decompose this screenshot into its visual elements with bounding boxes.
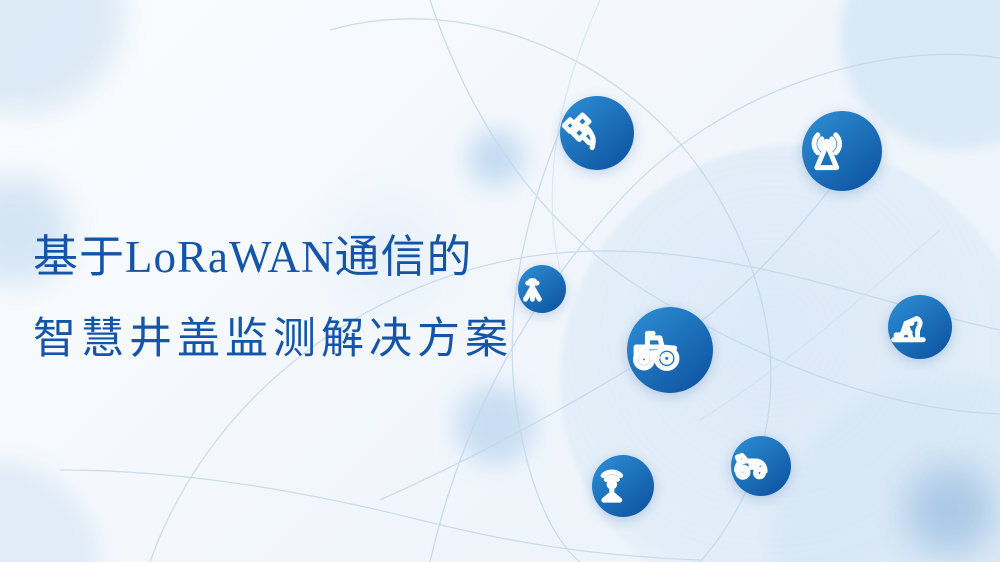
title-line-1: 基于LoRaWAN通信的 <box>33 228 513 286</box>
node-antenna[interactable] <box>802 111 882 191</box>
node-tripod[interactable] <box>518 265 566 313</box>
slide-canvas: 基于LoRaWAN通信的 智慧井盖监测解决方案 <box>0 0 1000 562</box>
tractor-icon <box>627 322 713 379</box>
node-sensor[interactable] <box>592 455 654 517</box>
node-oil-pump[interactable] <box>888 295 952 359</box>
wireless-sensor-icon <box>592 466 654 506</box>
title-block: 基于LoRaWAN通信的 智慧井盖监测解决方案 <box>33 228 513 370</box>
node-tractor[interactable] <box>627 307 713 393</box>
node-harvester[interactable] <box>731 436 791 496</box>
satellite-icon <box>560 110 634 156</box>
title-line-2: 智慧井盖监测解决方案 <box>33 308 513 370</box>
survey-tripod-icon <box>518 275 566 304</box>
antenna-tower-icon <box>802 126 882 176</box>
node-satellite[interactable] <box>560 96 634 170</box>
oil-pumpjack-icon <box>888 307 952 348</box>
harvester-vehicle-icon <box>731 446 791 486</box>
